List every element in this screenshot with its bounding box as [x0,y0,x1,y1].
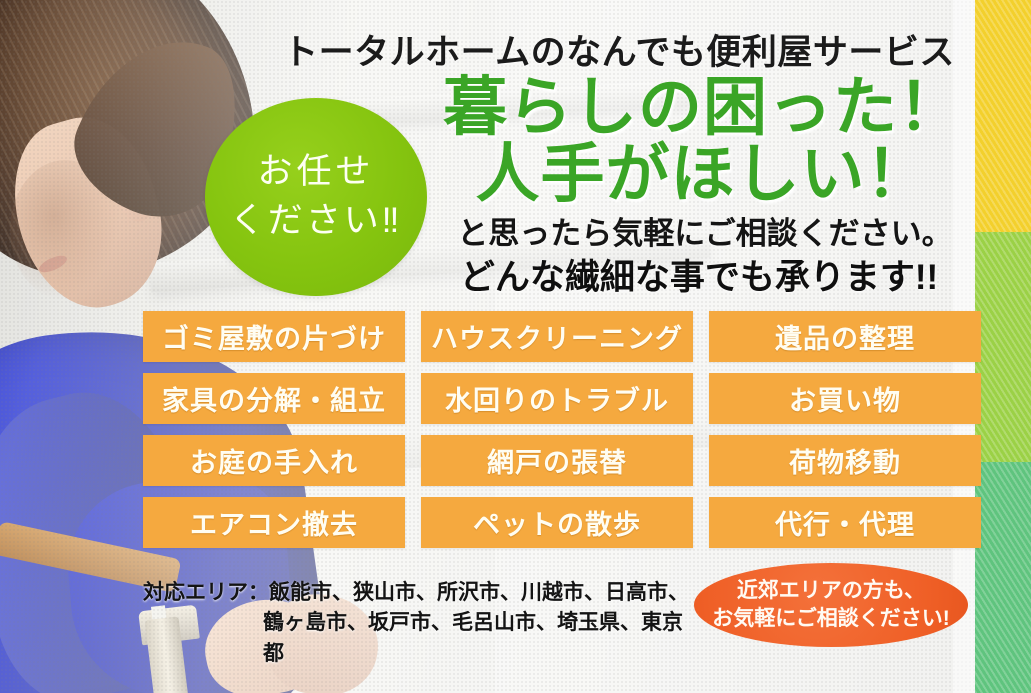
subtext-line2: どんな繊細な事でも承ります!! [410,249,988,300]
nearby-area-badge[interactable]: 近郊エリアの方も、 お気軽にご相談ください! [694,563,968,647]
nearby-area-line1: 近郊エリアの方も、 [737,577,925,605]
service-button[interactable]: お庭の手入れ [143,435,405,486]
circle-badge-line2: ください‼ [230,199,403,243]
service-area-line1: 対応エリア：飯能市、狭山市、所沢市、川越市、日高市、 [143,581,689,604]
service-button[interactable]: ペットの散歩 [421,497,693,548]
circle-badge: お任せ ください‼ [205,98,427,296]
service-button[interactable]: ハウスクリーニング [421,311,693,362]
headline-green-line1: 暮らしの困った！ [443,71,963,143]
service-button[interactable]: 水回りのトラブル [421,373,693,424]
service-button[interactable]: ゴミ屋敷の片づけ [143,311,405,362]
service-button[interactable]: 代行・代理 [709,497,981,548]
service-grid: ゴミ屋敷の片づけ ハウスクリーニング 遺品の整理 家具の分解・組立 水回りのトラ… [143,311,981,548]
service-button[interactable]: 家具の分解・組立 [143,373,405,424]
promo-banner: トータルホームのなんでも便利屋サービス 暮らしの困った！ 人手がほしい！ と思っ… [0,0,1031,693]
service-button[interactable]: 網戸の張替 [421,435,693,486]
service-button[interactable]: お買い物 [709,373,981,424]
strip-segment-green [975,462,1031,693]
headline-top: トータルホームのなんでも便利屋サービス [255,24,983,75]
service-area-text: 対応エリア：飯能市、狭山市、所沢市、川越市、日高市、 鶴ヶ島市、坂戸市、毛呂山市… [143,578,703,669]
service-button[interactable]: 遺品の整理 [709,311,981,362]
nearby-area-line2: お気軽にご相談ください! [712,605,950,633]
subtext-line1: と思ったら気軽にご相談ください。 [425,208,985,253]
headline-green: 暮らしの困った！ 人手がほしい！ [420,74,986,207]
circle-badge-line1: お任せ [257,151,374,193]
service-button[interactable]: エアコン撤去 [143,497,405,548]
service-button[interactable]: 荷物移動 [709,435,981,486]
headline-green-line2: 人手がほしい！ [420,141,986,208]
service-area-line2: 鶴ヶ島市、坂戸市、毛呂山市、埼玉県、東京都 [143,608,703,669]
